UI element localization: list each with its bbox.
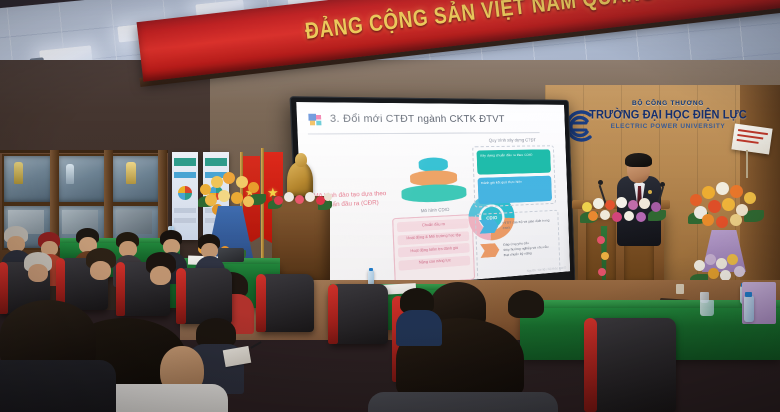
slide-bullet-icon xyxy=(307,113,324,128)
banner-band xyxy=(205,158,227,166)
flower xyxy=(605,200,615,210)
hanging-banner xyxy=(172,152,198,240)
pedestal-flowers xyxy=(268,188,334,214)
flower xyxy=(601,252,609,260)
flower xyxy=(223,172,235,184)
audience-chair xyxy=(330,284,388,344)
pink-row: Chuẩn đầu ra xyxy=(397,219,469,233)
podium-flowers xyxy=(578,196,670,230)
flower xyxy=(248,182,259,193)
flower xyxy=(324,193,332,201)
hair xyxy=(508,290,544,318)
flower xyxy=(694,260,705,271)
pen-icon xyxy=(250,341,261,349)
flower xyxy=(612,212,622,222)
chevron-step-icon xyxy=(479,219,498,234)
flower xyxy=(708,200,721,213)
torso xyxy=(0,360,116,412)
head xyxy=(28,264,48,282)
banner-circle-logo-icon xyxy=(178,186,192,200)
water-bottle xyxy=(744,296,754,322)
chair-trim xyxy=(176,268,186,324)
flower xyxy=(636,212,646,222)
flower xyxy=(702,214,714,226)
flower xyxy=(600,210,610,220)
chair-trim xyxy=(116,262,125,316)
chair-trim xyxy=(0,262,8,314)
flower xyxy=(727,254,738,265)
torso xyxy=(368,392,558,412)
chair-trim xyxy=(584,318,597,412)
drinking-glass xyxy=(700,300,714,316)
ministry-label: BỘ CÔNG THƯƠNG xyxy=(588,100,748,107)
slide-title-rule xyxy=(308,132,540,134)
trophy-shape xyxy=(66,164,74,184)
flower xyxy=(716,258,727,269)
flower xyxy=(243,196,254,207)
cabinet-glass-pane xyxy=(110,154,162,204)
trophy-shape xyxy=(14,162,23,184)
flower xyxy=(593,198,604,209)
university-name-en: ELECTRIC POWER UNIVERSITY xyxy=(588,123,748,130)
speaker-hair xyxy=(625,153,652,167)
chair-trim xyxy=(256,274,266,332)
flower xyxy=(295,195,304,204)
teal-box: Xây dựng chuẩn đầu ra theo CDIO xyxy=(477,149,551,174)
notebook xyxy=(223,346,252,367)
university-name-vi: TRƯỜNG ĐẠI HỌC ĐIỆN LỰC xyxy=(588,108,748,121)
head xyxy=(90,261,111,280)
microphone-head-icon xyxy=(660,182,665,187)
cdio-pyramid-diagram xyxy=(397,157,470,207)
flower xyxy=(705,254,716,265)
conference-hall-photo: ĐẢNG CỘNG SẢN VIỆT NAM QUANG VINH MUÔN N… xyxy=(0,0,780,412)
chair-trim xyxy=(328,284,338,344)
slide-title: 3. Đổi mới CTĐT ngành CKTK ĐTVT xyxy=(330,113,505,124)
audience-chair xyxy=(178,268,232,324)
flower xyxy=(598,268,606,276)
flower xyxy=(588,211,598,221)
flower xyxy=(211,176,223,188)
bottle-cap xyxy=(369,268,373,271)
chevron-step-icon xyxy=(480,243,499,258)
flower xyxy=(734,266,745,277)
cabinet-glass-pane xyxy=(2,154,54,204)
pyramid-caption: Mô hình CDIO xyxy=(392,205,477,214)
congratulation-card xyxy=(731,123,772,154)
banner-band xyxy=(174,172,196,178)
flower xyxy=(628,200,638,210)
flower xyxy=(702,186,715,199)
flower xyxy=(305,192,315,202)
banner-band xyxy=(174,158,196,166)
flower xyxy=(274,196,283,205)
audience-chair xyxy=(588,318,676,412)
card-stick xyxy=(746,150,748,178)
blue-box: Đánh giá kết quả thực hiện xyxy=(478,176,552,205)
flower xyxy=(744,192,756,204)
flower-stand-right-upper xyxy=(686,180,766,236)
flower xyxy=(597,236,605,244)
flower xyxy=(730,185,743,198)
flower xyxy=(616,197,627,208)
flower xyxy=(651,202,661,212)
audience-chair xyxy=(258,274,314,332)
laptop-shape xyxy=(218,248,244,262)
banner-band xyxy=(174,208,196,213)
bottle-cap xyxy=(745,292,752,297)
pyramid-level xyxy=(401,184,466,204)
pink-row: Nâng cao năng lực xyxy=(398,255,470,270)
flower xyxy=(231,192,243,204)
flower xyxy=(716,182,729,195)
bust-head xyxy=(295,153,307,167)
flower xyxy=(639,198,650,209)
slide-pink-box: Chuẩn đầu ra Hoạt động & Môi trường học … xyxy=(392,214,475,286)
banner-band xyxy=(174,218,196,223)
microphone-head-icon xyxy=(598,180,603,185)
flower xyxy=(284,192,294,202)
flower xyxy=(716,216,728,228)
flower xyxy=(690,194,702,206)
right-box-group: Xây dựng chuẩn đầu ra theo CDIO Đánh giá… xyxy=(472,145,556,207)
speaker-lapel-pin xyxy=(648,190,652,194)
torso xyxy=(396,310,442,346)
university-wall-sign: BỘ CÔNG THƯƠNG TRƯỜNG ĐẠI HỌC ĐIỆN LỰC E… xyxy=(588,100,748,130)
head xyxy=(150,266,171,285)
right-column-caption: Quy trình xây dựng CTĐT xyxy=(472,137,552,143)
wall-socket-icon xyxy=(676,284,684,294)
flower xyxy=(624,211,634,221)
flower xyxy=(722,198,735,211)
flower xyxy=(218,190,230,202)
cabinet-photo xyxy=(116,210,152,234)
slide-content: 3. Đổi mới CTĐT ngành CKTK ĐTVT Mô hình … xyxy=(296,102,570,294)
cabinet-glass-pane xyxy=(56,154,108,204)
trophy-shape xyxy=(126,162,136,184)
flower xyxy=(236,176,248,188)
flower xyxy=(730,214,742,226)
flower xyxy=(708,268,719,279)
